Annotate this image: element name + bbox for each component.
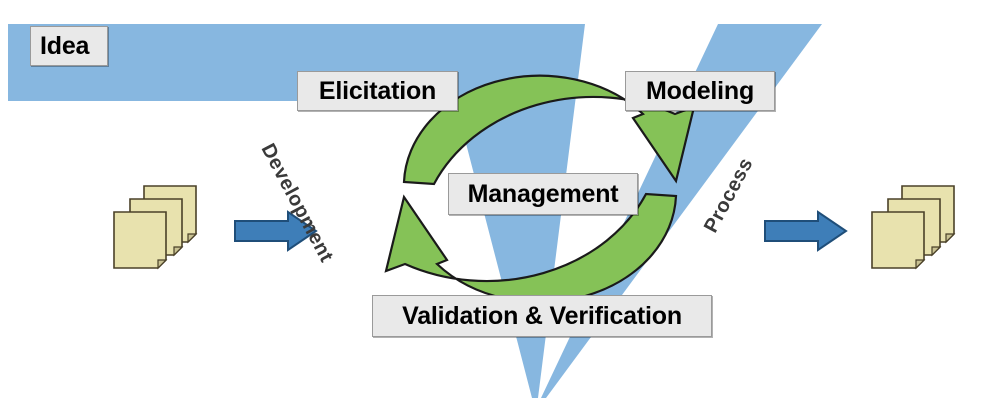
input-document-fold-2 [174, 247, 182, 255]
input-document-fold-3 [188, 234, 196, 242]
input-document-stack [114, 186, 196, 268]
output-document-fold-1 [916, 260, 924, 268]
diagram-canvas: Development Process Idea Elicitation Mod… [0, 0, 982, 416]
label-box-elicitation: Elicitation [297, 71, 458, 111]
output-document-fold-2 [932, 247, 940, 255]
input-document-fold-1 [158, 260, 166, 268]
output-flow-arrow [765, 212, 846, 250]
label-box-modeling: Modeling [625, 71, 775, 111]
output-document-stack [872, 186, 954, 268]
output-document-fold-3 [946, 234, 954, 242]
label-box-management: Management [448, 173, 638, 215]
output-flow-arrow-shape [765, 212, 846, 250]
label-box-validation-verification: Validation & Verification [372, 295, 712, 337]
label-box-idea: Idea [30, 26, 108, 66]
